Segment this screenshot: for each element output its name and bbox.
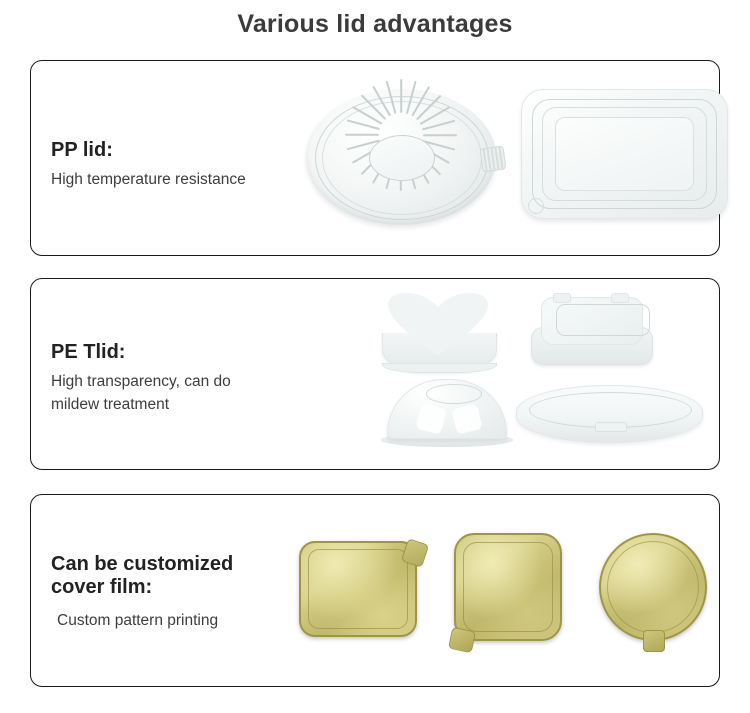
heart-pet-lid-image xyxy=(376,293,501,375)
oval-lid-body xyxy=(516,385,703,443)
panel-custom-cover-film-heading: Can be customized cover film: xyxy=(51,553,233,599)
page-title: Various lid advantages xyxy=(0,10,750,39)
panel-pe-tlid-description: High transparency, can do mildew treatme… xyxy=(51,370,231,417)
gold-rectangular-foil-lid-image xyxy=(299,541,417,637)
oval-lid-notch xyxy=(595,422,627,432)
gold-square-inner-panel xyxy=(463,542,553,632)
panel-pp-lid-heading: PP lid: xyxy=(51,139,246,162)
panel-custom-cover-film-description: Custom pattern printing xyxy=(51,609,233,632)
round-lid-rib xyxy=(423,134,457,136)
panel-custom-cover-film: Can be customized cover film: Custom pat… xyxy=(30,494,720,687)
round-lid-rib xyxy=(400,79,402,113)
heart-lid-rim xyxy=(382,363,497,373)
round-lid-vent-tab xyxy=(479,145,506,172)
dome-pet-lid-image xyxy=(381,379,511,451)
gold-square-foil-lid-image xyxy=(454,533,562,641)
square-lid-tab-left xyxy=(553,293,571,303)
round-pp-lid-image xyxy=(306,89,506,229)
rect-lid-corner-notch xyxy=(528,198,544,214)
dome-lid-top-circle xyxy=(426,384,482,404)
square-lid-top xyxy=(541,297,643,345)
square-pet-lid-image xyxy=(531,297,651,369)
round-lid-body xyxy=(306,89,496,225)
panel-pp-lid-text: PP lid: High temperature resistance xyxy=(51,139,246,191)
gold-round-foil-lid-image xyxy=(599,533,707,641)
gold-square-pull-tab xyxy=(448,627,476,654)
gold-round-inner-panel xyxy=(607,541,699,633)
rect-lid-body xyxy=(521,89,728,219)
panel-pp-lid-description: High temperature resistance xyxy=(51,168,246,191)
panel-pp-lid: PP lid: High temperature resistance xyxy=(30,60,720,256)
dome-lid-facet-right xyxy=(451,403,483,435)
panel-pe-tlid-text: PE Tlid: High transparency, can do milde… xyxy=(51,341,231,417)
round-lid-center-hub xyxy=(369,135,435,181)
rectangular-pp-lid-image xyxy=(521,89,736,224)
panel-pe-tlid: PE Tlid: High transparency, can do milde… xyxy=(30,278,720,470)
dome-lid-facet-left xyxy=(415,403,447,435)
dome-lid-cap xyxy=(387,379,507,439)
panel-custom-cover-film-text: Can be customized cover film: Custom pat… xyxy=(51,553,233,632)
gold-rect-inner-panel xyxy=(308,549,408,629)
rect-lid-groove-inner xyxy=(555,117,694,191)
square-lid-tab-right xyxy=(611,293,629,303)
panel-pe-tlid-heading: PE Tlid: xyxy=(51,341,231,364)
square-lid-inner-panel xyxy=(556,304,650,336)
gold-round-pull-tab xyxy=(643,630,665,652)
oval-pet-lid-image xyxy=(516,385,701,447)
